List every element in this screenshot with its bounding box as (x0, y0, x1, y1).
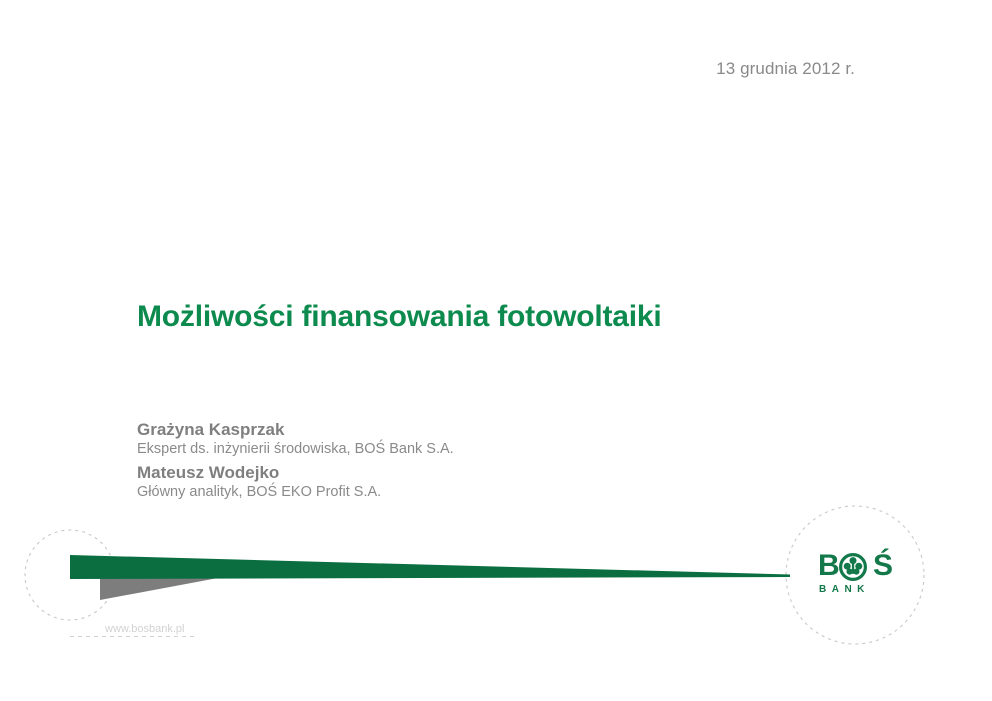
left-dashed-circle-icon (25, 530, 115, 620)
presenter-role: Główny analityk, BOŚ EKO Profit S.A. (137, 483, 617, 502)
presenter-role: Ekspert ds. inżynierii środowiska, BOŚ B… (137, 440, 617, 459)
clover-in-circle-icon (839, 553, 867, 581)
green-wedge-shape (70, 555, 790, 579)
slide-date: 13 grudnia 2012 r. (716, 59, 855, 79)
logo-wordmark: B Ś (818, 551, 900, 581)
presentation-slide: 13 grudnia 2012 r. Możliwości finansowan… (0, 0, 992, 701)
website-url[interactable]: www.bosbank.pl (105, 623, 185, 635)
gray-wedge-shape (100, 578, 218, 600)
presenter-name: Mateusz Wodejko (137, 462, 617, 483)
slide-title: Możliwości finansowania fotowoltaiki (137, 300, 662, 334)
presenter-list: Grażyna Kasprzak Ekspert ds. inżynierii … (137, 419, 617, 505)
logo-subtitle: BANK (819, 584, 870, 596)
logo-letter-s: Ś (873, 551, 892, 581)
logo-letter-b: B (818, 551, 839, 581)
presenter-name: Grażyna Kasprzak (137, 419, 617, 440)
bos-bank-logo: B Ś BANK (818, 551, 900, 599)
